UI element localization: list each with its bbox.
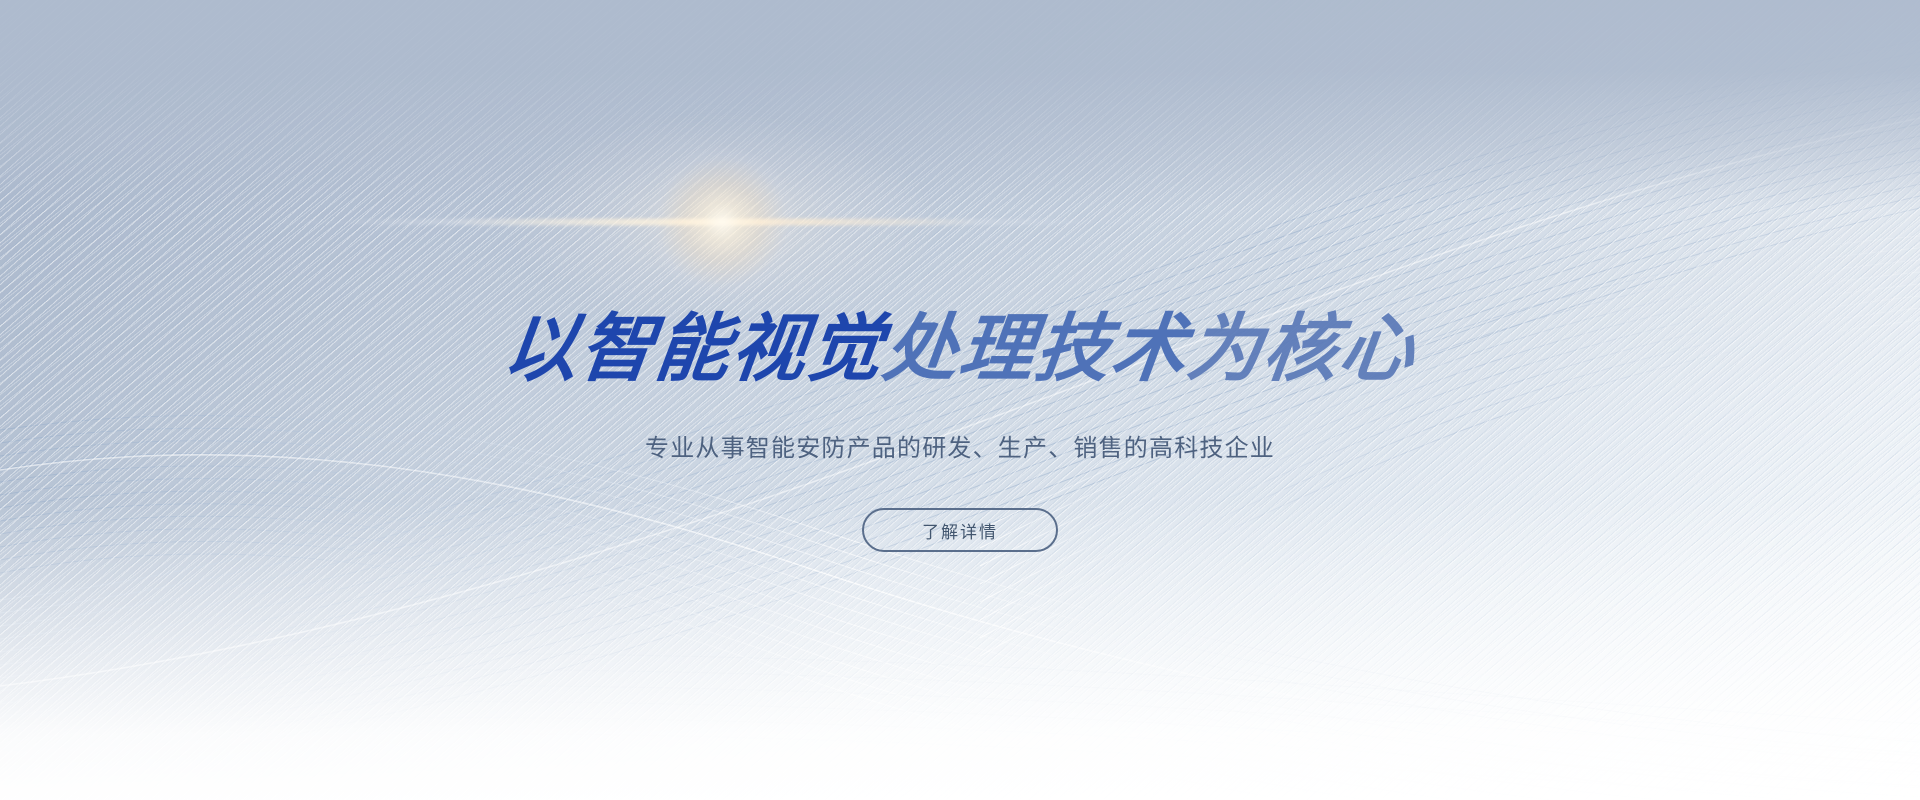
page-subtitle: 专业从事智能安防产品的研发、生产、销售的高科技企业 [0, 428, 1920, 463]
headline-segment-primary: 以智能视觉 [499, 312, 888, 386]
hero-banner: 以智能视觉处理技术为核心 专业从事智能安防产品的研发、生产、销售的高科技企业 了… [0, 0, 1920, 800]
learn-more-button[interactable]: 了解详情 [862, 508, 1058, 552]
page-title: 以智能视觉处理技术为核心 [0, 312, 1920, 386]
banner-content: 以智能视觉处理技术为核心 专业从事智能安防产品的研发、生产、销售的高科技企业 了… [0, 0, 1920, 800]
cta-container: 了解详情 [0, 508, 1920, 552]
headline-segment-tertiary: 为核心 [1183, 312, 1420, 386]
headline-segment-secondary: 处理技术 [879, 312, 1192, 386]
